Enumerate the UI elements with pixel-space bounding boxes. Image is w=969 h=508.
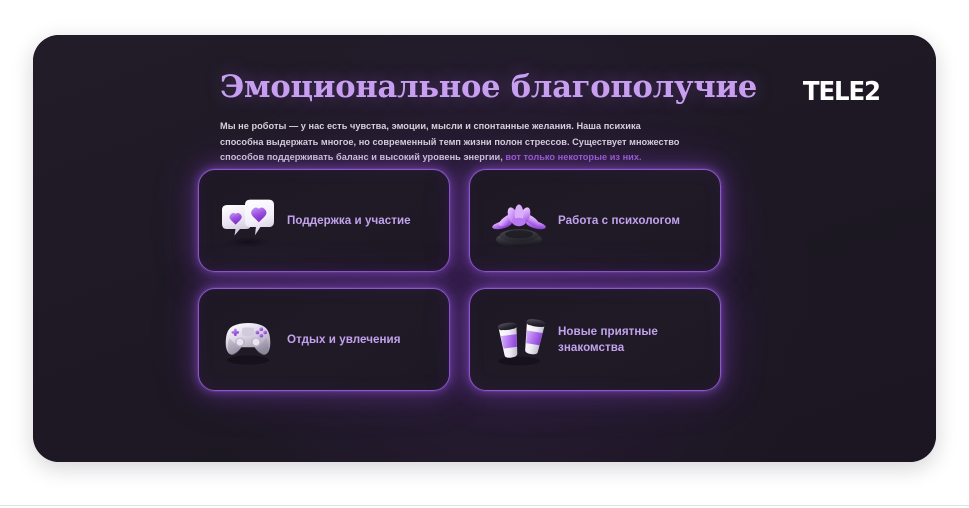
tele2-logo: TELE2: [803, 77, 880, 107]
lotus-flower-stone-icon: [488, 192, 550, 250]
card-label-psychologist-work: Работа с психологом: [558, 213, 680, 229]
topic-cards-grid: Поддержка и участие: [198, 169, 721, 391]
coffee-cups-icon: [488, 311, 550, 369]
card-support-participation[interactable]: Поддержка и участие: [198, 169, 450, 272]
emotional-wellbeing-panel: TELE2 Эмоциональное благополучие Мы не р…: [33, 35, 936, 462]
page-background: TELE2 Эмоциональное благополучие Мы не р…: [0, 0, 969, 508]
intro-paragraph-highlight[interactable]: вот только некоторые из них.: [505, 152, 641, 162]
card-label-support-participation: Поддержка и участие: [287, 213, 411, 229]
tele2-logo-text: TELE2: [803, 77, 880, 107]
panel-header: TELE2 Эмоциональное благополучие Мы не р…: [220, 71, 880, 165]
game-controller-icon: [217, 311, 279, 369]
page-bottom-divider: [0, 505, 969, 506]
card-label-new-acquaintances: Новые приятные знакомства: [558, 324, 683, 355]
card-new-acquaintances[interactable]: Новые приятные знакомства: [469, 288, 721, 391]
card-psychologist-work[interactable]: Работа с психологом: [469, 169, 721, 272]
card-label-rest-hobbies: Отдых и увлечения: [287, 332, 401, 348]
intro-paragraph: Мы не роботы — у нас есть чувства, эмоци…: [220, 119, 686, 165]
page-title: Эмоциональное благополучие: [220, 71, 880, 103]
card-rest-hobbies[interactable]: Отдых и увлечения: [198, 288, 450, 391]
speech-bubbles-hearts-icon: [217, 192, 279, 250]
